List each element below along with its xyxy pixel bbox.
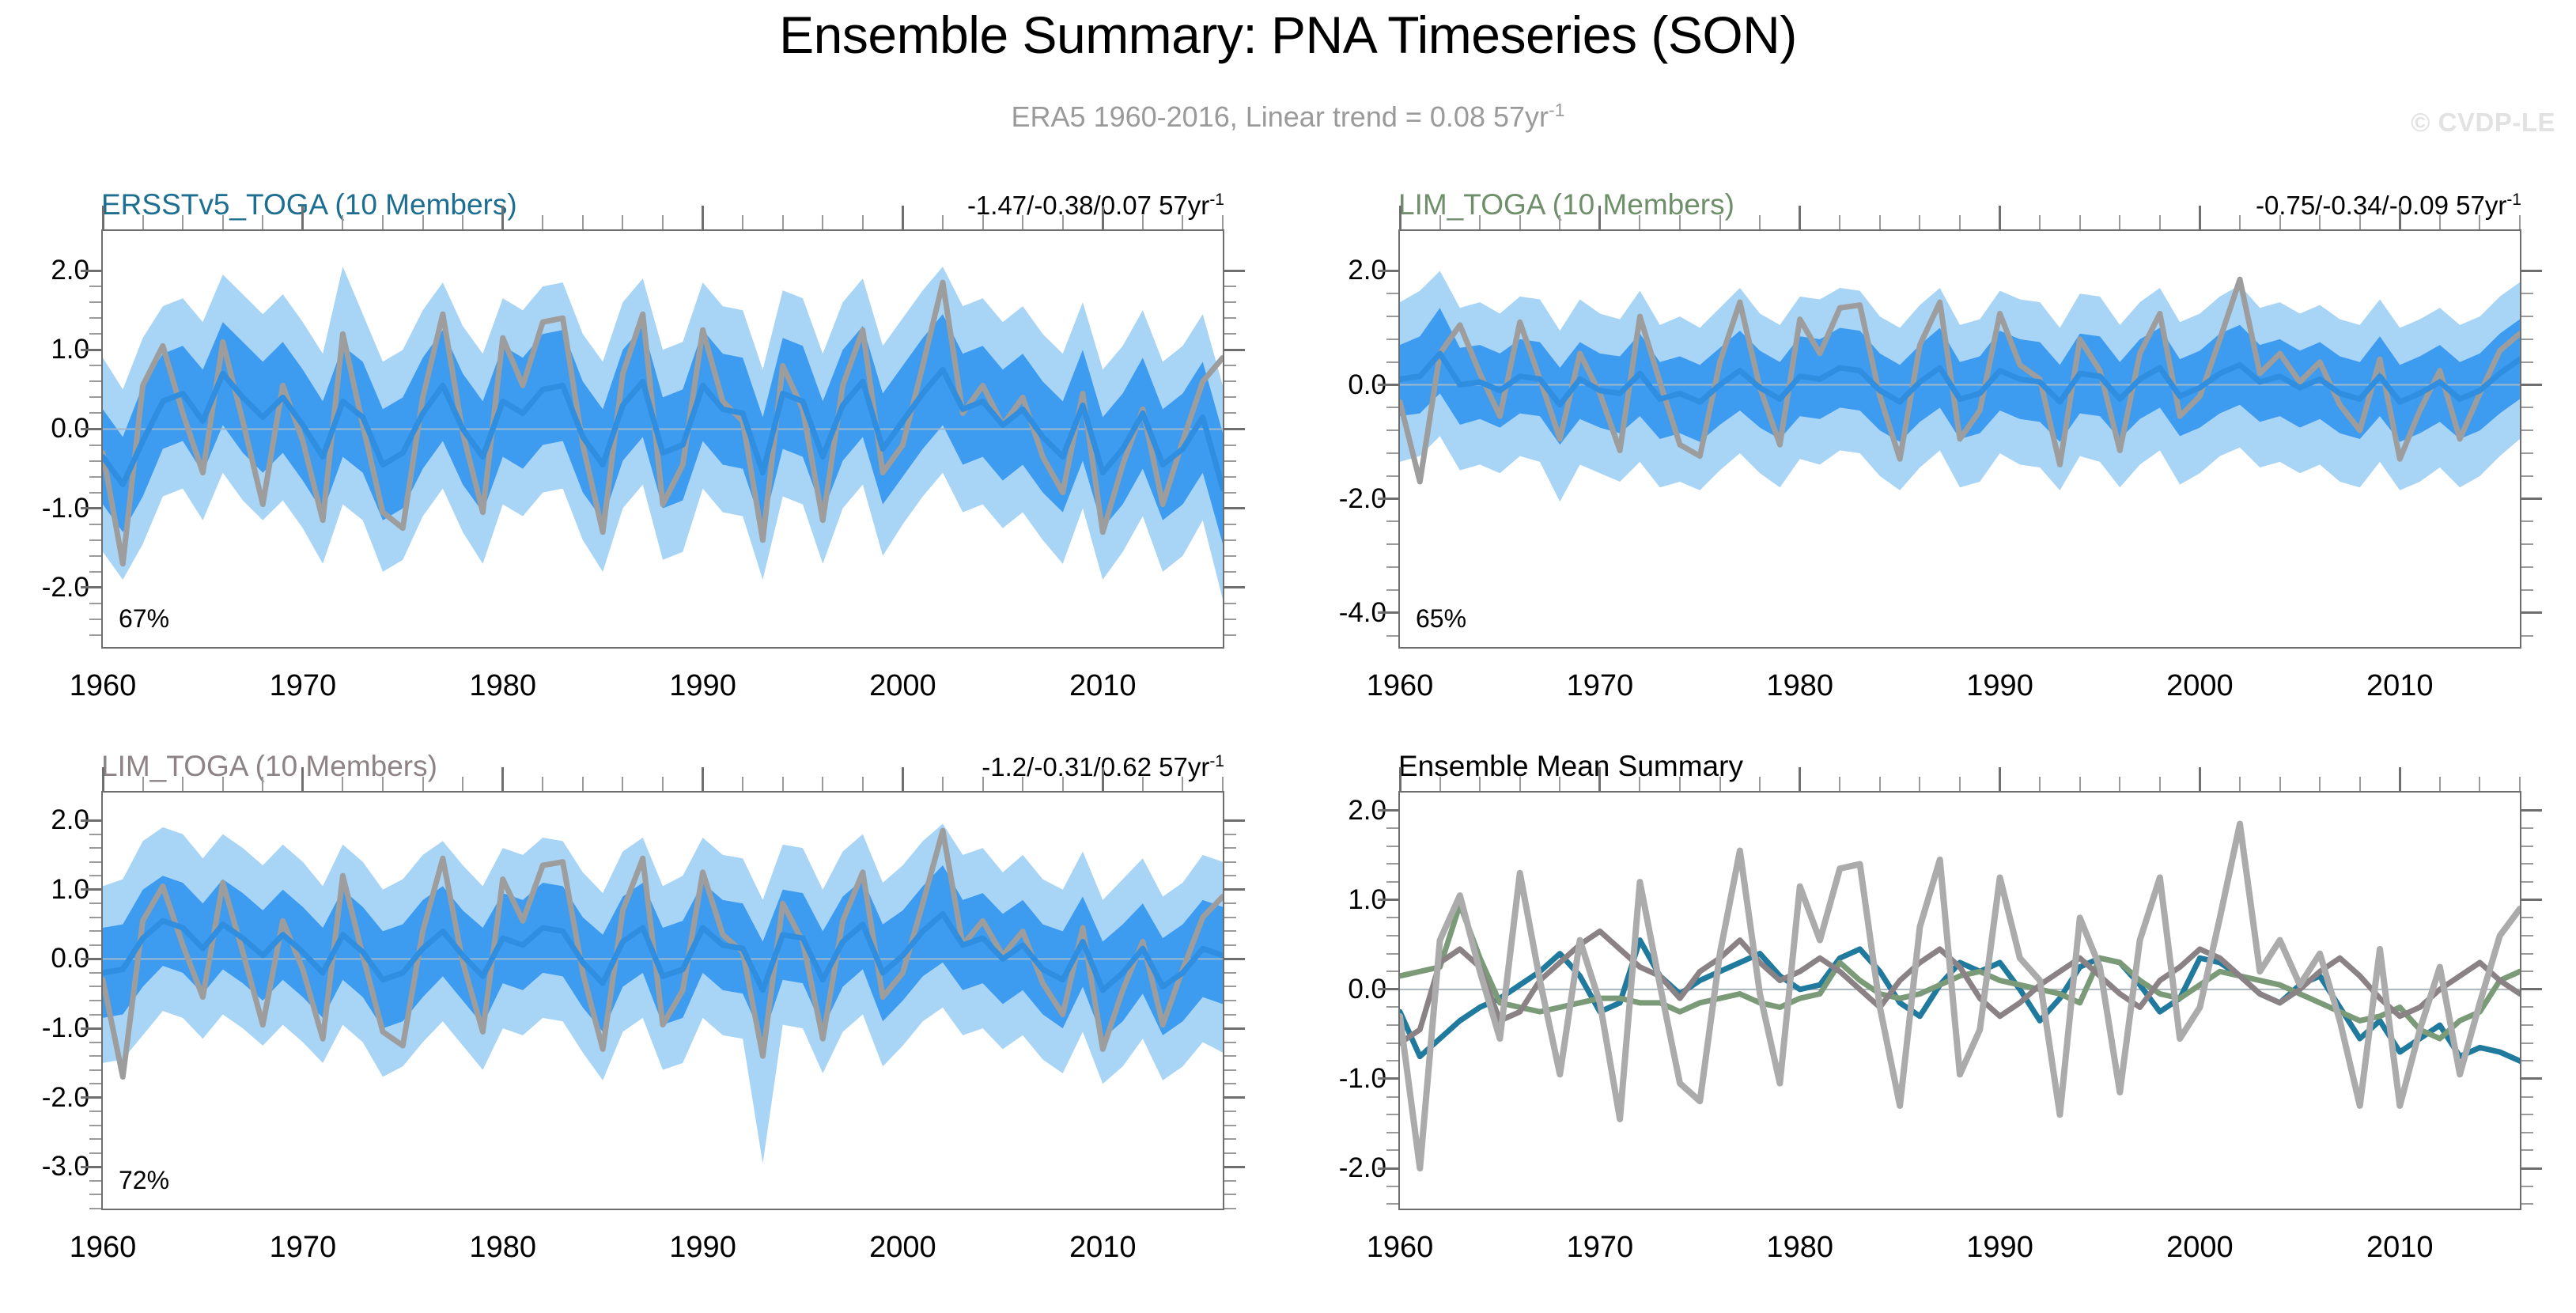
panel-ersstv5-toga-xtick-label: 1970 [270,669,337,703]
panel-lim-toga-bottom-xtick-label: 1960 [70,1231,137,1265]
panel-ersstv5-toga-xtick-major [902,206,904,229]
panel-ersstv5-toga-xtick-minor [222,215,224,229]
panel-lim-toga-top-ytick-minor [2521,407,2533,408]
panel-ersstv5-toga-xtick-minor [742,215,743,229]
panel-ensemble-mean-summary-ytick-minor [1386,935,1398,937]
panel-ensemble-mean-summary-ytick-minor [2521,1132,2533,1133]
panel-lim-toga-bottom-ytick-minor [89,944,101,946]
panel-ensemble-mean-summary-ytick-major [2521,988,2542,990]
panel-ersstv5-toga-ytick-label: -2.0 [0,572,89,604]
panel-lim-toga-bottom-xtick-major [902,767,904,791]
panel-lim-toga-bottom-ytick-minor [1224,1083,1236,1084]
panel-lim-toga-bottom-ytick-minor [89,1055,101,1057]
panel-ersstv5-toga-xtick-minor [462,215,463,229]
panel-ersstv5-toga-ytick-minor [89,555,101,557]
panel-ersstv5-toga-ytick-minor [89,396,101,398]
panel-ensemble-mean-summary-xtick-label: 2010 [2366,1231,2434,1265]
panel-lim-toga-bottom-ytick-minor [1224,902,1236,904]
panel-lim-toga-bottom-ytick-minor [89,1208,101,1209]
panel-lim-toga-top-xtick-minor [2479,215,2480,229]
panel-ersstv5-toga-ytick-minor [1224,634,1236,636]
panel-lim-toga-bottom-ytick-major [81,888,101,891]
panel-lim-toga-bottom-ytick-label: 2.0 [0,804,89,836]
panel-lim-toga-bottom-xtick-minor [1062,777,1064,791]
panel-ensemble-mean-summary-ytick-major [1378,988,1398,990]
panel-ensemble-mean-summary-series-3 [1400,824,2520,1169]
panel-ensemble-mean-summary-xtick-minor [1839,777,1840,791]
panel-ensemble-mean-summary-xtick-minor [2039,777,2041,791]
panel-ersstv5-toga-xtick-minor [1182,215,1183,229]
panel-lim-toga-bottom-ytick-minor [89,834,101,835]
panel-lim-toga-bottom-xtick-label: 2000 [869,1231,936,1265]
panel-ensemble-mean-summary-ytick-major [1378,1077,1398,1080]
panel-ersstv5-toga-xtick-label: 2000 [869,669,936,703]
panel-ensemble-mean-summary-xtick-minor [1959,777,1961,791]
panel-ersstv5-toga-ytick-minor [89,524,101,525]
panel-lim-toga-bottom-ytick-major [1224,1027,1245,1030]
panel-ersstv5-toga: ERSSTv5_TOGA (10 Members)-1.47/-0.38/0.0… [101,188,1224,718]
panel-ersstv5-toga-plot-area [101,229,1224,649]
panel-ensemble-mean-summary-xtick-minor [1519,777,1521,791]
panel-lim-toga-top-ytick-minor [2521,566,2533,568]
panel-lim-toga-top-xtick-minor [2119,215,2120,229]
panel-lim-toga-bottom-ytick-minor [1224,1194,1236,1195]
panel-lim-toga-bottom-xtick-minor [1022,777,1023,791]
panel-lim-toga-top-xtick-minor [1519,215,1521,229]
panel-ensemble-mean-summary-ytick-minor [1386,846,1398,847]
panel-lim-toga-top-ytick-minor [1386,452,1398,454]
panel-ersstv5-toga-xtick-minor [1142,215,1144,229]
panel-lim-toga-top-ytick-minor [2521,339,2533,340]
panel-ensemble-mean-summary-xtick-minor [1639,777,1640,791]
panel-ersstv5-toga-xtick-minor [542,215,543,229]
panel-lim-toga-bottom-ytick-minor [1224,1208,1236,1209]
panel-ensemble-mean-summary-plot-area [1398,791,2521,1210]
panel-lim-toga-bottom-ytick-minor [89,930,101,932]
panel-ensemble-mean-summary-xtick-minor [1559,777,1560,791]
panel-lim-toga-top-ytick-minor [1386,339,1398,340]
panel-lim-toga-bottom-ytick-minor [1224,1042,1236,1043]
panel-ensemble-mean-summary-svg [1400,793,2520,1209]
panel-lim-toga-top-ytick-label: 0.0 [1256,369,1386,401]
panel-lim-toga-bottom-ytick-minor [89,972,101,974]
panel-lim-toga-bottom-ytick-major [81,1027,101,1030]
panel-ensemble-mean-summary-xtick-major [1399,767,1401,791]
panel-lim-toga-bottom-xtick-minor [462,777,463,791]
panel-ensemble-mean-summary-xtick-major [1598,767,1601,791]
panel-ersstv5-toga-ytick-major [81,428,101,430]
panel-ersstv5-toga-xtick-minor [662,215,664,229]
panel-lim-toga-top-xtick-minor [2239,215,2241,229]
panel-ersstv5-toga-xtick-label: 1980 [469,669,536,703]
panel-lim-toga-bottom-xtick-minor [262,777,263,791]
panel-lim-toga-bottom-xtick-label: 1990 [669,1231,736,1265]
panel-ersstv5-toga-ytick-minor [1224,317,1236,319]
panel-lim-toga-top-xtick-minor [2319,215,2321,229]
panel-lim-toga-top-ytick-major [2521,498,2542,500]
panel-lim-toga-bottom-ytick-minor [1224,1069,1236,1071]
panel-ersstv5-toga-xtick-minor [382,215,384,229]
panel-lim-toga-bottom-ytick-label: -2.0 [0,1082,89,1114]
figure-subtitle-text: ERA5 1960-2016, Linear trend = 0.08 57yr [1012,100,1549,133]
panel-lim-toga-top-ytick-minor [2521,293,2533,294]
panel-lim-toga-top-xtick-major [1799,206,1801,229]
panel-ersstv5-toga-ytick-label: 1.0 [0,334,89,365]
panel-ersstv5-toga-ytick-minor [89,412,101,414]
panel-ersstv5-toga-ytick-minor [1224,571,1236,573]
panel-lim-toga-bottom-xtick-minor [542,777,543,791]
panel-lim-toga-top: LIM_TOGA (10 Members)-0.75/-0.34/-0.09 5… [1398,188,2521,718]
panel-lim-toga-bottom-percent-label: 72% [119,1166,169,1195]
panel-lim-toga-bottom-ytick-minor [1224,1014,1236,1016]
panel-ensemble-mean-summary-title: Ensemble Mean Summary [1398,750,1743,783]
panel-ersstv5-toga-ytick-major [1224,270,1245,272]
panel-lim-toga-bottom-ytick-minor [89,1125,101,1126]
panel-lim-toga-top-ytick-minor [1386,635,1398,637]
panel-ensemble-mean-summary-xtick-label: 1970 [1567,1231,1634,1265]
panel-lim-toga-top-ytick-minor [1386,316,1398,317]
panel-ensemble-mean-summary-xtick-minor [2239,777,2241,791]
panel-lim-toga-top-xtick-minor [2039,215,2041,229]
panel-lim-toga-bottom-ytick-minor [1224,972,1236,974]
panel-lim-toga-bottom-ytick-minor [1224,1138,1236,1140]
panel-ensemble-mean-summary-ytick-label: 2.0 [1256,795,1386,827]
panel-ersstv5-toga-ytick-minor [1224,524,1236,525]
panel-ersstv5-toga-ytick-minor [89,301,101,303]
panel-lim-toga-top-ytick-minor [1386,429,1398,431]
panel-lim-toga-top-ytick-minor [1386,407,1398,408]
panel-ensemble-mean-summary-xtick-minor [1919,777,1920,791]
panel-lim-toga-bottom-ytick-label: -3.0 [0,1151,89,1182]
panel-ensemble-mean-summary-ytick-minor [1386,1186,1398,1187]
panel-lim-toga-top-ytick-label: 2.0 [1256,255,1386,286]
panel-ensemble-mean-summary-xtick-minor [2439,777,2441,791]
panel-lim-toga-bottom-xtick-minor [1142,777,1144,791]
panel-lim-toga-bottom-xtick-minor [862,777,864,791]
panel-lim-toga-bottom-xtick-minor [1182,777,1183,791]
panel-lim-toga-top-trend-stat: -0.75/-0.34/-0.09 57yr-1 [2256,191,2521,221]
panel-ersstv5-toga-ytick-label: 0.0 [0,413,89,445]
panel-lim-toga-top-ytick-minor [1386,520,1398,522]
panel-lim-toga-bottom-ytick-major [1224,888,1245,891]
panel-ersstv5-toga-ytick-minor [1224,365,1236,366]
panel-ensemble-mean-summary-xtick-minor [2079,777,2081,791]
panel-lim-toga-bottom-ytick-minor [1224,930,1236,932]
panel-lim-toga-top-xtick-minor [1439,215,1441,229]
panel-ensemble-mean-summary-ytick-minor [2521,935,2533,937]
panel-ersstv5-toga-trend-stat: -1.47/-0.38/0.07 57yr-1 [967,191,1224,221]
panel-ersstv5-toga-ytick-major [1224,428,1245,430]
panel-ersstv5-toga-xtick-major [1102,206,1104,229]
panel-ensemble-mean-summary-ytick-major [1378,899,1398,901]
panel-lim-toga-top-ytick-major [1378,384,1398,386]
panel-ersstv5-toga-ytick-minor [89,539,101,541]
panel-ensemble-mean-summary-ytick-major [1378,809,1398,812]
page-title: Ensemble Summary: PNA Timeseries (SON) [0,5,2576,65]
panel-ersstv5-toga-ytick-major [1224,349,1245,351]
panel-lim-toga-top-xtick-label: 1960 [1367,669,1434,703]
panel-ensemble-mean-summary: Ensemble Mean Summary [1398,750,2521,1280]
panel-ersstv5-toga-xtick-minor [1062,215,1064,229]
panel-lim-toga-top-svg [1400,231,2520,647]
panel-lim-toga-bottom-xtick-major [1102,767,1104,791]
panel-lim-toga-top-ytick-minor [1386,293,1398,294]
panel-lim-toga-top-xtick-minor [1919,215,1920,229]
panel-lim-toga-top-xtick-minor [1479,215,1481,229]
panel-ensemble-mean-summary-ytick-minor [1386,1203,1398,1205]
panel-lim-toga-top-ytick-minor [1386,543,1398,545]
panel-lim-toga-bottom-ytick-label: 1.0 [0,874,89,906]
panel-ensemble-mean-summary-ytick-minor [2521,1114,2533,1115]
panel-lim-toga-top-ytick-minor [2521,520,2533,522]
panel-ensemble-mean-summary-ytick-minor [2521,1060,2533,1061]
panel-ensemble-mean-summary-ytick-minor [1386,1024,1398,1026]
panel-ersstv5-toga-xtick-major [702,206,704,229]
panel-lim-toga-top-xtick-minor [1879,215,1881,229]
panel-lim-toga-bottom-ytick-minor [1224,1152,1236,1154]
panel-ersstv5-toga-svg [103,231,1223,647]
panel-lim-toga-bottom-title: LIM_TOGA (10 Members) [101,750,437,783]
panel-lim-toga-top-ytick-minor [1386,566,1398,568]
panel-ensemble-mean-summary-xtick-minor [1439,777,1441,791]
panel-lim-toga-top-ytick-minor [1386,589,1398,591]
panel-lim-toga-bottom-ytick-minor [1224,917,1236,918]
panel-ersstv5-toga-ytick-minor [89,603,101,604]
panel-ensemble-mean-summary-ytick-minor [1386,1042,1398,1044]
panel-lim-toga-bottom-xtick-major [702,767,704,791]
panel-ensemble-mean-summary-xtick-minor [2359,777,2361,791]
panel-lim-toga-top-ytick-minor [2521,589,2533,591]
panel-lim-toga-bottom-ytick-minor [1224,1055,1236,1057]
panel-ersstv5-toga-ytick-minor [1224,333,1236,335]
panel-lim-toga-bottom-ytick-minor [89,847,101,849]
panel-ensemble-mean-summary-ytick-minor [2521,1024,2533,1026]
panel-ersstv5-toga-ytick-minor [1224,619,1236,620]
panel-lim-toga-top-ytick-major [1378,498,1398,500]
panel-ensemble-mean-summary-ytick-major [2521,1167,2542,1170]
panel-lim-toga-bottom-ytick-minor [1224,861,1236,863]
panel-lim-toga-bottom-xtick-minor [182,777,183,791]
panel-ensemble-mean-summary-xtick-major [2399,767,2401,791]
panel-ersstv5-toga-xtick-major [301,206,304,229]
panel-ensemble-mean-summary-xtick-major [2199,767,2201,791]
panel-lim-toga-bottom-xtick-minor [742,777,743,791]
panel-ensemble-mean-summary-ytick-major [2521,1077,2542,1080]
panel-lim-toga-top-ytick-major [2521,270,2542,272]
panel-ersstv5-toga-xtick-major [102,206,104,229]
panel-lim-toga-bottom-ytick-minor [89,902,101,904]
panel-ensemble-mean-summary-ytick-minor [2521,971,2533,972]
panel-lim-toga-bottom-xtick-minor [662,777,664,791]
panel-lim-toga-bottom-xtick-minor [342,777,343,791]
panel-lim-toga-bottom-ytick-label: 0.0 [0,943,89,974]
panel-lim-toga-top-ytick-major [2521,384,2542,386]
panel-ersstv5-toga-xtick-major [501,206,504,229]
panel-lim-toga-top-title: LIM_TOGA (10 Members) [1398,188,1734,221]
panel-lim-toga-bottom-ytick-major [1224,819,1245,822]
panel-ersstv5-toga-ytick-minor [1224,603,1236,604]
panel-ersstv5-toga-ytick-minor [89,286,101,287]
panel-lim-toga-bottom-ytick-minor [89,1014,101,1016]
panel-lim-toga-bottom-ytick-minor [89,986,101,987]
panel-lim-toga-top-ytick-minor [2521,475,2533,477]
panel-ersstv5-toga-title: ERSSTv5_TOGA (10 Members) [101,188,517,221]
panel-lim-toga-bottom-ytick-minor [1224,986,1236,987]
figure-subtitle: ERA5 1960-2016, Linear trend = 0.08 57yr… [0,100,2576,134]
panel-lim-toga-bottom-ytick-minor [1224,834,1236,835]
panel-ersstv5-toga-ytick-minor [89,317,101,319]
panel-lim-toga-top-ytick-minor [2521,635,2533,637]
panel-ersstv5-toga-ytick-minor [1224,286,1236,287]
panel-ensemble-mean-summary-ytick-minor [2521,917,2533,918]
panel-ensemble-mean-summary-ytick-minor [1386,863,1398,865]
panel-ensemble-mean-summary-xtick-minor [1759,777,1761,791]
panel-lim-toga-top-percent-label: 65% [1416,604,1466,634]
panel-lim-toga-top-xtick-minor [1559,215,1560,229]
panel-lim-toga-bottom-ytick-major [1224,958,1245,960]
panel-ersstv5-toga-ytick-minor [1224,492,1236,494]
panel-lim-toga-top-xtick-major [2399,206,2401,229]
panel-ensemble-mean-summary-ytick-minor [1386,827,1398,829]
panel-ersstv5-toga-ytick-major [1224,586,1245,588]
panel-ersstv5-toga-xtick-minor [582,215,584,229]
panel-ersstv5-toga-ytick-major [81,349,101,351]
panel-lim-toga-bottom: LIM_TOGA (10 Members)-1.2/-0.31/0.62 57y… [101,750,1224,1280]
panel-ensemble-mean-summary-xtick-minor [2119,777,2120,791]
panel-ersstv5-toga-ytick-minor [89,634,101,636]
panel-lim-toga-bottom-ytick-minor [89,1180,101,1182]
panel-lim-toga-bottom-xtick-minor [222,777,224,791]
panel-lim-toga-bottom-svg [103,793,1223,1209]
panel-lim-toga-top-xtick-minor [1719,215,1721,229]
panel-lim-toga-top-xtick-major [2199,206,2201,229]
panel-ensemble-mean-summary-ytick-label: 1.0 [1256,884,1386,916]
panel-lim-toga-bottom-ytick-minor [89,1000,101,1001]
panel-lim-toga-bottom-ytick-minor [1224,847,1236,849]
panel-lim-toga-bottom-xtick-minor [622,777,623,791]
panel-ensemble-mean-summary-ytick-minor [2521,953,2533,955]
panel-lim-toga-top-xtick-label: 1990 [1966,669,2033,703]
panel-lim-toga-top-plot-area [1398,229,2521,649]
panel-ersstv5-toga-ytick-minor [89,460,101,462]
panel-ersstv5-toga-ytick-minor [89,333,101,335]
panel-lim-toga-bottom-xtick-minor [782,777,784,791]
panel-lim-toga-top-ytick-minor [2521,452,2533,454]
panel-ensemble-mean-summary-ytick-minor [1386,1114,1398,1115]
panel-ersstv5-toga-ytick-minor [1224,396,1236,398]
panel-ersstv5-toga-ytick-major [81,270,101,272]
panel-ensemble-mean-summary-ytick-minor [1386,1132,1398,1133]
panel-ensemble-mean-summary-xtick-major [1799,767,1801,791]
figure-root: Ensemble Summary: PNA Timeseries (SON) E… [0,0,2576,1313]
panel-lim-toga-bottom-ytick-minor [89,1042,101,1043]
panel-ensemble-mean-summary-xtick-minor [1719,777,1721,791]
panel-lim-toga-top-xtick-minor [1959,215,1961,229]
panel-lim-toga-top-ytick-minor [2521,316,2533,317]
panel-lim-toga-bottom-xtick-major [501,767,504,791]
panel-ersstv5-toga-percent-label: 67% [119,604,169,634]
panel-lim-toga-bottom-ytick-minor [1224,875,1236,876]
panel-lim-toga-top-xtick-label: 2000 [2166,669,2234,703]
panel-ensemble-mean-summary-ytick-minor [2521,1096,2533,1098]
panel-lim-toga-bottom-ytick-major [81,1166,101,1168]
panel-ensemble-mean-summary-xtick-label: 1960 [1367,1231,1434,1265]
panel-lim-toga-bottom-xtick-minor [942,777,944,791]
panel-lim-toga-top-xtick-minor [2159,215,2161,229]
panel-lim-toga-bottom-xtick-minor [982,777,984,791]
panel-ersstv5-toga-ytick-minor [1224,539,1236,541]
panel-lim-toga-top-xtick-minor [2359,215,2361,229]
panel-ensemble-mean-summary-ytick-label: -2.0 [1256,1152,1386,1184]
panel-ersstv5-toga-xtick-minor [342,215,343,229]
panel-lim-toga-bottom-ytick-minor [1224,1125,1236,1126]
panel-ensemble-mean-summary-ytick-major [2521,899,2542,901]
panel-lim-toga-top-xtick-minor [2279,215,2281,229]
panel-ersstv5-toga-xtick-label: 1990 [669,669,736,703]
panel-ersstv5-toga-ytick-minor [89,365,101,366]
panel-lim-toga-top-ytick-minor [2521,429,2533,431]
panel-lim-toga-bottom-ytick-major [81,819,101,822]
panel-ersstv5-toga-ytick-major [1224,507,1245,509]
panel-ersstv5-toga-xtick-minor [422,215,424,229]
panel-lim-toga-bottom-ytick-major [1224,1166,1245,1168]
panel-lim-toga-bottom-ytick-minor [89,861,101,863]
panel-lim-toga-bottom-ytick-minor [89,875,101,876]
panel-ersstv5-toga-ytick-minor [89,476,101,478]
panel-ensemble-mean-summary-ytick-minor [1386,1149,1398,1151]
panel-ersstv5-toga-ytick-minor [89,445,101,446]
panel-ersstv5-toga-ytick-minor [1224,445,1236,446]
cvdp-watermark: © CVDP-LE [2411,108,2555,138]
panel-lim-toga-top-xtick-minor [1839,215,1840,229]
panel-lim-toga-top-xtick-major [1598,206,1601,229]
panel-ensemble-mean-summary-ytick-minor [1386,953,1398,955]
panel-ersstv5-toga-xtick-minor [142,215,144,229]
panel-ersstv5-toga-ytick-major [81,507,101,509]
panel-lim-toga-top-xtick-minor [1679,215,1681,229]
panel-ensemble-mean-summary-ytick-minor [1386,1060,1398,1061]
panel-ensemble-mean-summary-xtick-label: 1990 [1966,1231,2033,1265]
panel-lim-toga-bottom-xtick-label: 1970 [270,1231,337,1265]
panel-ensemble-mean-summary-ytick-minor [1386,1006,1398,1008]
panel-lim-toga-bottom-ytick-minor [89,1069,101,1071]
panel-lim-toga-bottom-ytick-minor [1224,1111,1236,1112]
panel-lim-toga-bottom-ytick-major [1224,1096,1245,1099]
panel-lim-toga-top-ytick-label: -2.0 [1256,483,1386,515]
panel-ensemble-mean-summary-xtick-minor [1479,777,1481,791]
panel-lim-toga-top-ytick-major [1378,611,1398,614]
panel-ensemble-mean-summary-ytick-minor [1386,881,1398,883]
panel-lim-toga-top-xtick-label: 1980 [1766,669,1833,703]
panel-ersstv5-toga-xtick-minor [822,215,823,229]
panel-lim-toga-top-xtick-minor [2079,215,2081,229]
panel-lim-toga-bottom-xtick-label: 2010 [1069,1231,1137,1265]
panel-ensemble-mean-summary-xtick-minor [2319,777,2321,791]
panel-ersstv5-toga-xtick-minor [622,215,623,229]
panel-ersstv5-toga-ytick-minor [89,619,101,620]
panel-lim-toga-bottom-ytick-major [81,1096,101,1099]
panel-lim-toga-bottom-xtick-minor [382,777,384,791]
panel-lim-toga-top-ytick-minor [1386,475,1398,477]
panel-lim-toga-top-xtick-minor [1759,215,1761,229]
panel-ensemble-mean-summary-ytick-minor [1386,917,1398,918]
panel-lim-toga-bottom-xtick-major [102,767,104,791]
panel-lim-toga-bottom-ytick-label: -1.0 [0,1012,89,1044]
panel-ensemble-mean-summary-ytick-major [1378,1167,1398,1170]
panel-ersstv5-toga-ytick-label: -1.0 [0,493,89,524]
panel-ersstv5-toga-ytick-minor [1224,301,1236,303]
panel-ersstv5-toga-ytick-minor [89,571,101,573]
